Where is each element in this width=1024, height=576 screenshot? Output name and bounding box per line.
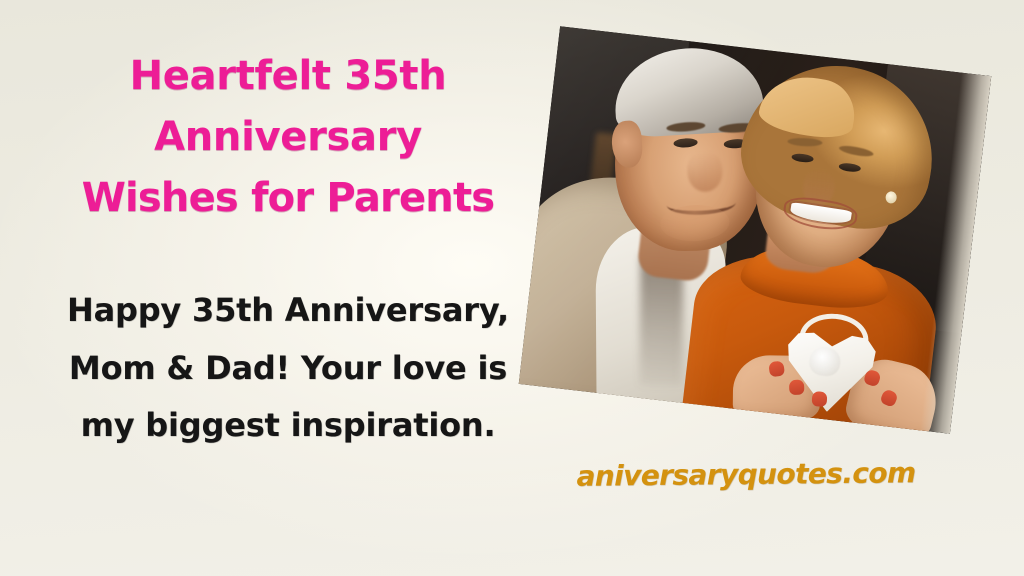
site-watermark: aniversaryquotes.com	[566, 456, 926, 493]
text-column: Heartfelt 35th Anniversary Wishes for Pa…	[8, 46, 568, 454]
fingernail	[811, 391, 827, 407]
message-line-3: my biggest inspiration.	[8, 397, 568, 454]
message-line-2: Mom & Dad! Your love is	[8, 340, 568, 397]
couple-photo	[519, 26, 992, 433]
message-body: Happy 35th Anniversary, Mom & Dad! Your …	[8, 282, 568, 454]
headline-line-1: Heartfelt 35th	[8, 46, 568, 107]
fingernail	[789, 380, 804, 395]
poster-canvas: Heartfelt 35th Anniversary Wishes for Pa…	[0, 0, 1024, 576]
headline-line-3: Wishes for Parents	[8, 168, 568, 229]
message-line-1: Happy 35th Anniversary,	[8, 282, 568, 339]
headline-line-2: Anniversary	[8, 107, 568, 168]
page-title: Heartfelt 35th Anniversary Wishes for Pa…	[8, 46, 568, 228]
photo-scene	[519, 26, 992, 433]
